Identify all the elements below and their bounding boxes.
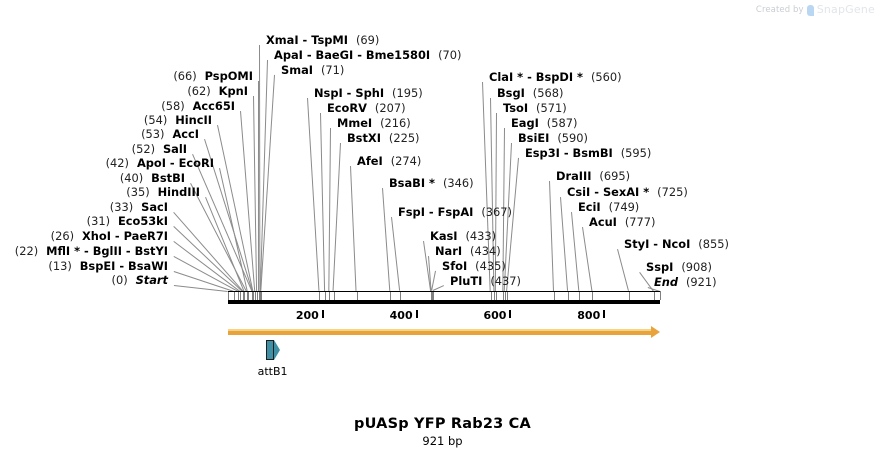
site-label-styi-enzymes: StyI - NcoI (624, 237, 690, 251)
site-label-csii-position: (725) (657, 185, 688, 199)
site-label-end-enzymes: End (654, 275, 678, 289)
sequence-backbone (228, 300, 660, 304)
site-label-start[interactable]: (0) Start (0, 274, 168, 287)
orf-arrow-highlight (228, 329, 651, 331)
site-label-bspei-position: (13) (48, 259, 71, 273)
site-label-apai-enzymes: ApaI - BaeGI - Bme1580I (274, 48, 430, 62)
site-label-mmei-position: (216) (380, 116, 411, 130)
site-label-nari-enzymes: NarI (435, 244, 462, 258)
site-label-xmai[interactable]: XmaI - TspMI (69) (266, 34, 379, 47)
site-label-kpni-enzymes: KpnI (219, 84, 248, 98)
site-label-eco53ki-position: (31) (87, 214, 110, 228)
site-label-bstbi[interactable]: (40) BstBI (0, 172, 185, 185)
site-label-clai-enzymes: ClaI * - BspDI * (489, 70, 583, 84)
site-label-apai-position: (70) (438, 48, 461, 62)
site-label-bsabi-enzymes: BsaBI * (389, 176, 435, 190)
site-label-end[interactable]: End (921) (654, 276, 717, 289)
site-label-bstbi-position: (40) (120, 171, 143, 185)
site-label-tsoi-position: (571) (536, 101, 567, 115)
site-label-ecorv-position: (207) (375, 101, 406, 115)
site-label-hincii-enzymes: HincII (175, 113, 212, 127)
site-label-tsoi-enzymes: TsoI (503, 101, 528, 115)
site-label-bsgi-enzymes: BsgI (497, 86, 525, 100)
site-label-apoi-enzymes: ApoI - EcoRI (137, 156, 214, 170)
site-label-sfoi-enzymes: SfoI (442, 259, 467, 273)
site-label-bsiei-enzymes: BsiEI (518, 131, 549, 145)
site-label-kasi[interactable]: KasI (433) (430, 230, 496, 243)
site-label-smai-enzymes: SmaI (281, 63, 313, 77)
site-label-hindiii-enzymes: HindIII (158, 185, 200, 199)
site-label-esp3i-position: (595) (621, 146, 652, 160)
feature-attB1-label: attB1 (258, 365, 288, 378)
feature-attB1-arrowhead (274, 340, 280, 360)
site-label-pluti-position: (437) (490, 274, 521, 288)
site-label-pspomi-position: (66) (173, 69, 196, 83)
plasmid-title: pUASp YFP Rab23 CA (0, 416, 885, 432)
site-label-saci-enzymes: SacI (141, 200, 168, 214)
site-label-styi-position: (855) (698, 237, 729, 251)
site-label-bsabi[interactable]: BsaBI * (346) (389, 177, 474, 190)
site-label-apai[interactable]: ApaI - BaeGI - Bme1580I (70) (274, 49, 461, 62)
site-label-acc65i-position: (58) (161, 99, 184, 113)
restriction-site-labels: (0) Start(13) BspEI - BsaWI(22) MflI * -… (0, 0, 885, 300)
site-label-kpni[interactable]: (62) KpnI (0, 85, 248, 98)
site-label-sspi-enzymes: SspI (646, 260, 673, 274)
site-label-saci[interactable]: (33) SacI (0, 201, 168, 214)
site-label-bsgi-position: (568) (533, 86, 564, 100)
site-label-clai[interactable]: ClaI * - BspDI * (560) (489, 71, 622, 84)
ruler-label-800: 800 (577, 309, 600, 322)
site-label-ecii[interactable]: EciI (749) (578, 201, 639, 214)
site-label-nspi-enzymes: NspI - SphI (314, 86, 384, 100)
site-label-hincii-position: (54) (144, 113, 167, 127)
site-label-mfli[interactable]: (22) MflI * - BglII - BstYI (0, 245, 168, 258)
site-label-pspomi-enzymes: PspOMI (205, 69, 253, 83)
site-label-csii[interactable]: CsiI - SexAI * (725) (567, 186, 688, 199)
site-label-end-position: (921) (686, 275, 717, 289)
site-label-nari-position: (434) (470, 244, 501, 258)
site-label-eagi-position: (587) (547, 116, 578, 130)
site-label-acui-enzymes: AcuI (589, 215, 617, 229)
site-label-csii-enzymes: CsiI - SexAI * (567, 185, 649, 199)
site-label-hindiii-position: (35) (126, 185, 149, 199)
site-label-pluti-enzymes: PluTI (450, 274, 482, 288)
site-label-mmei-enzymes: MmeI (337, 116, 372, 130)
site-label-styi[interactable]: StyI - NcoI (855) (624, 238, 729, 251)
site-label-pspomi[interactable]: (66) PspOMI (0, 70, 253, 83)
site-label-pluti[interactable]: PluTI (437) (450, 275, 521, 288)
site-label-ecii-enzymes: EciI (578, 200, 601, 214)
site-label-bsiei-position: (590) (557, 131, 588, 145)
site-label-sspi[interactable]: SspI (908) (646, 261, 712, 274)
site-label-saci-position: (33) (110, 200, 133, 214)
site-label-bstxi-position: (225) (389, 131, 420, 145)
site-label-sspi-position: (908) (681, 260, 712, 274)
site-label-draiii[interactable]: DraIII (695) (556, 170, 630, 183)
ruler-label-600: 600 (483, 309, 506, 322)
site-label-fspi-position: (367) (481, 205, 512, 219)
site-label-fspi-enzymes: FspI - FspAI (398, 205, 473, 219)
site-label-afei[interactable]: AfeI (274) (357, 155, 421, 168)
site-label-bsgi[interactable]: BsgI (568) (497, 87, 563, 100)
plasmid-map-canvas: Created by SnapGene (0) Start(13) BspEI … (0, 0, 885, 456)
site-label-sali[interactable]: (52) SalI (0, 143, 187, 156)
site-label-start-position: (0) (112, 273, 128, 287)
site-label-kasi-position: (433) (465, 229, 496, 243)
site-label-mfli-position: (22) (15, 244, 38, 258)
site-label-eco53ki[interactable]: (31) Eco53kI (0, 215, 168, 228)
ruler-tick-600 (509, 310, 511, 318)
site-label-nspi-position: (195) (392, 86, 423, 100)
site-label-acci[interactable]: (53) AccI (0, 128, 199, 141)
site-label-bstxi-enzymes: BstXI (347, 131, 381, 145)
site-label-afei-position: (274) (391, 154, 422, 168)
site-label-smai[interactable]: SmaI (71) (281, 64, 344, 77)
sequence-outline (228, 291, 660, 292)
site-label-draiii-enzymes: DraIII (556, 169, 591, 183)
site-label-fspi[interactable]: FspI - FspAI (367) (398, 206, 512, 219)
site-label-esp3i-enzymes: Esp3I - BsmBI (525, 146, 613, 160)
site-label-apoi-position: (42) (106, 156, 129, 170)
site-label-xmai-position: (69) (356, 33, 379, 47)
site-label-nari[interactable]: NarI (434) (435, 245, 501, 258)
site-label-bsiei[interactable]: BsiEI (590) (518, 132, 588, 145)
site-label-sfoi[interactable]: SfoI (435) (442, 260, 506, 273)
ruler-tick-200 (322, 310, 324, 318)
site-label-sfoi-position: (435) (475, 259, 506, 273)
site-label-afei-enzymes: AfeI (357, 154, 383, 168)
site-label-kasi-enzymes: KasI (430, 229, 458, 243)
site-label-ecorv-enzymes: EcoRV (327, 101, 367, 115)
site-label-smai-position: (71) (321, 63, 344, 77)
site-label-bspei[interactable]: (13) BspEI - BsaWI (0, 260, 168, 273)
feature-attB1-box (266, 340, 274, 360)
site-label-mfli-enzymes: MflI * - BglII - BstYI (46, 244, 168, 258)
site-label-ecii-position: (749) (609, 200, 640, 214)
site-label-kpni-position: (62) (187, 84, 210, 98)
ruler-label-200: 200 (296, 309, 319, 322)
site-label-acc65i[interactable]: (58) Acc65I (0, 100, 235, 113)
site-label-apoi[interactable]: (42) ApoI - EcoRI (0, 157, 214, 170)
site-label-clai-position: (560) (591, 70, 622, 84)
site-label-eagi[interactable]: EagI (587) (511, 117, 577, 130)
ruler-label-400: 400 (390, 309, 413, 322)
site-label-xmai-enzymes: XmaI - TspMI (266, 33, 348, 47)
site-label-xhoi[interactable]: (26) XhoI - PaeR7I (0, 230, 168, 243)
site-label-eco53ki-enzymes: Eco53kI (118, 214, 168, 228)
site-label-acc65i-enzymes: Acc65I (193, 99, 235, 113)
site-label-acui-position: (777) (625, 215, 656, 229)
site-label-bstbi-enzymes: BstBI (151, 171, 185, 185)
site-label-acui[interactable]: AcuI (777) (589, 216, 656, 229)
site-label-bsabi-position: (346) (443, 176, 474, 190)
orf-arrow-head (651, 326, 660, 338)
site-label-bspei-enzymes: BspEI - BsaWI (80, 259, 168, 273)
site-label-mmei[interactable]: MmeI (216) (337, 117, 411, 130)
site-label-acci-position: (53) (141, 127, 164, 141)
site-label-nspi[interactable]: NspI - SphI (195) (314, 87, 423, 100)
site-label-bstxi[interactable]: BstXI (225) (347, 132, 420, 145)
site-label-acci-enzymes: AccI (172, 127, 199, 141)
site-label-sali-enzymes: SalI (163, 142, 187, 156)
site-label-tsoi[interactable]: TsoI (571) (503, 102, 567, 115)
ruler-tick-400 (416, 310, 418, 318)
site-label-hindiii[interactable]: (35) HindIII (0, 186, 200, 199)
site-label-hincii[interactable]: (54) HincII (0, 114, 212, 127)
site-label-draiii-position: (695) (599, 169, 630, 183)
site-label-sali-position: (52) (132, 142, 155, 156)
site-label-start-enzymes: Start (136, 273, 168, 287)
site-label-xhoi-enzymes: XhoI - PaeR7I (82, 229, 168, 243)
site-label-xhoi-position: (26) (51, 229, 74, 243)
site-label-esp3i[interactable]: Esp3I - BsmBI (595) (525, 147, 651, 160)
site-label-ecorv[interactable]: EcoRV (207) (327, 102, 406, 115)
site-label-eagi-enzymes: EagI (511, 116, 539, 130)
ruler-tick-800 (603, 310, 605, 318)
plasmid-length: 921 bp (0, 434, 885, 448)
